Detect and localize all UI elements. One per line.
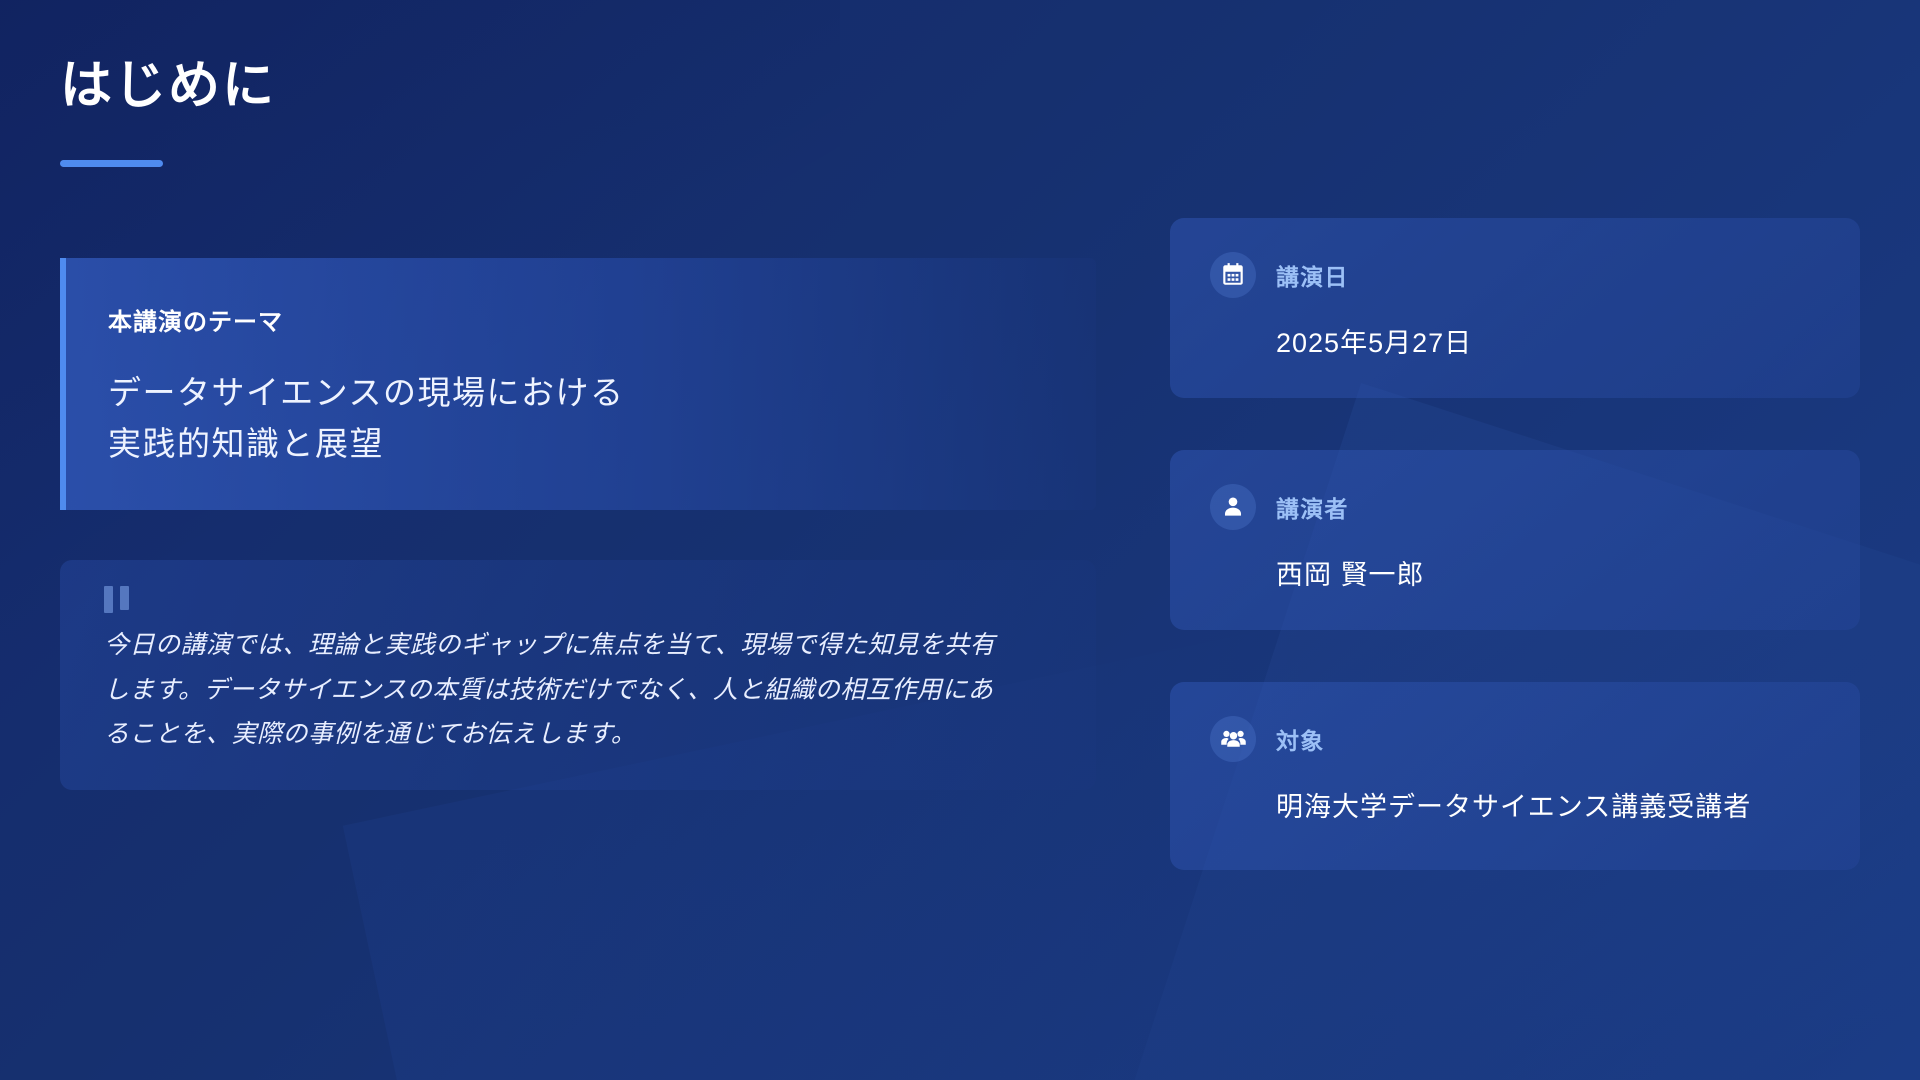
info-card-speaker-header: 講演者 [1210,484,1820,530]
quote-text-line-1: 今日の講演では、理論と実践のギャップに焦点を当て、現場で得た知見を共有 [104,623,1052,668]
info-card-audience: 対象 明海大学データサイエンス講義受講者 [1170,682,1860,870]
info-card-speaker-label: 講演者 [1276,490,1349,524]
info-card-date-value: 2025年5月27日 [1276,326,1820,361]
theme-card: 本講演のテーマ データサイエンスの現場における 実践的知識と展望 [60,258,1096,510]
info-card-date-label: 講演日 [1276,258,1349,292]
person-icon [1210,484,1256,530]
group-icon [1210,716,1256,762]
title-accent-rule [60,160,163,167]
info-card-date-header: 講演日 [1210,252,1820,298]
slide-content: はじめに 本講演のテーマ データサイエンスの現場における 実践的知識と展望 今日… [0,0,1920,1080]
slide-root: はじめに 本講演のテーマ データサイエンスの現場における 実践的知識と展望 今日… [0,0,1920,1080]
quote-text-line-2: します。データサイエンスの本質は技術だけでなく、人と組織の相互作用にあ [104,668,1052,713]
quote-mark-icon [104,586,1052,613]
calendar-icon [1210,252,1256,298]
theme-card-label: 本講演のテーマ [108,302,1096,337]
theme-text-line-2: 実践的知識と展望 [108,418,1096,469]
info-card-speaker: 講演者 西岡 賢一郎 [1170,450,1860,630]
quote-text-line-3: ることを、実際の事例を通じてお伝えします。 [104,712,1052,757]
info-card-speaker-value: 西岡 賢一郎 [1276,558,1820,593]
page-title: はじめに [60,58,276,115]
info-card-date: 講演日 2025年5月27日 [1170,218,1860,398]
info-card-audience-header: 対象 [1210,716,1820,762]
quote-card: 今日の講演では、理論と実践のギャップに焦点を当て、現場で得た知見を共有 します。… [60,560,1096,790]
info-card-audience-value: 明海大学データサイエンス講義受講者 [1276,790,1820,825]
theme-text-line-1: データサイエンスの現場における [108,367,1096,418]
info-card-audience-label: 対象 [1276,722,1324,756]
